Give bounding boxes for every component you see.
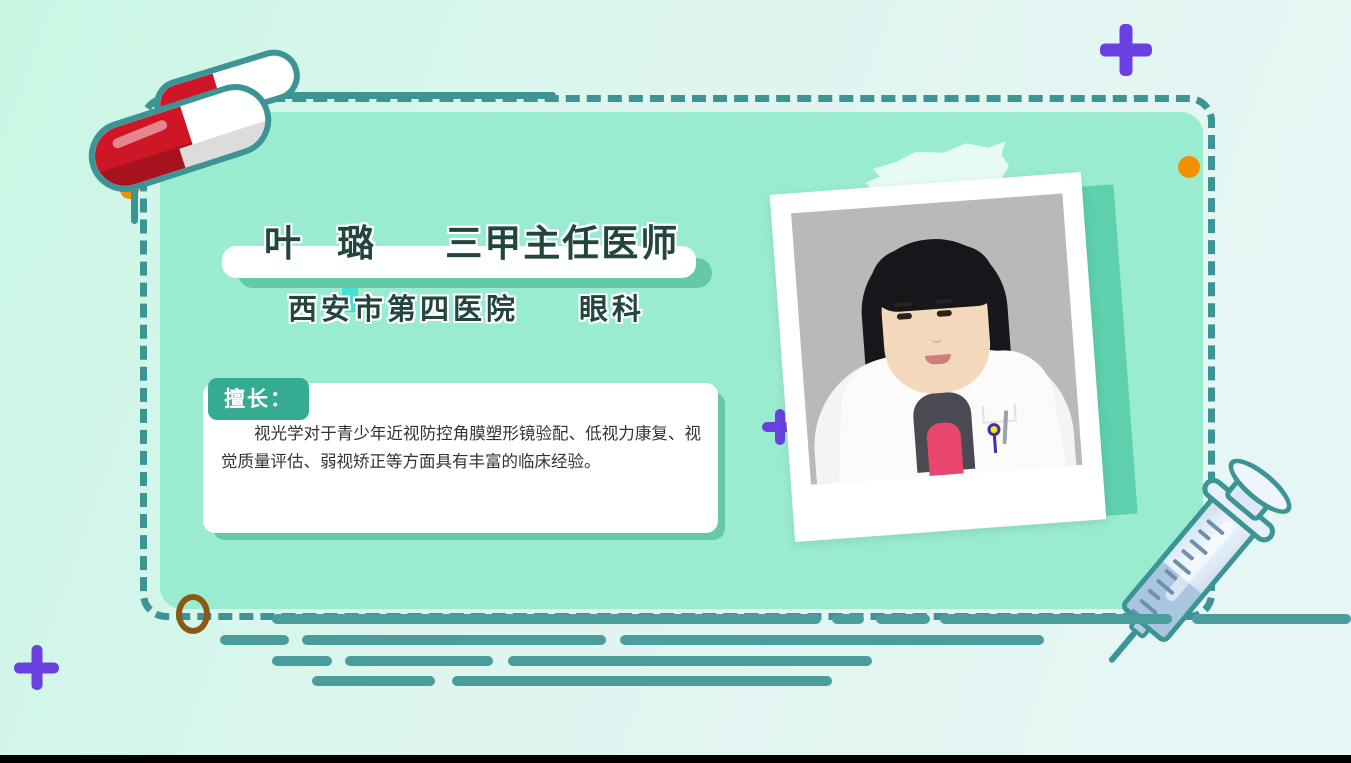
- plus-icon-top-right: [1100, 24, 1152, 76]
- dash-segment: [272, 656, 332, 666]
- orange-dot-right: [1178, 156, 1200, 178]
- dash-segment: [940, 614, 1172, 624]
- affiliation-row: 西安市第四医院 眼科: [222, 286, 742, 328]
- frame-top-segment: [276, 92, 556, 99]
- name-row: 叶 璐 三甲主任医师: [222, 216, 722, 264]
- doctor-rank: 三甲主任医师: [445, 213, 679, 267]
- dash-segment: [302, 635, 606, 645]
- dash-segment: [220, 635, 289, 645]
- dash-segment: [312, 676, 435, 686]
- dash-segment: [1192, 614, 1351, 624]
- dash-segment: [508, 656, 872, 666]
- brown-ring-icon: [176, 594, 210, 634]
- plus-icon-bottom-left: [14, 645, 59, 690]
- dash-segment: [876, 614, 930, 624]
- capsule-icon: [82, 58, 312, 208]
- specialty-label-badge: 擅长：: [208, 378, 309, 420]
- doctor-photo: [791, 193, 1082, 484]
- doctor-name: 叶 璐: [264, 213, 387, 267]
- portrait-illustration: [791, 193, 1082, 484]
- department-name: 眼科: [579, 286, 645, 328]
- photo-frame: [770, 172, 1107, 542]
- doctor-profile-card: 叶 璐 三甲主任医师 西安市第四医院 眼科 擅长： 视光学对于青少年近视防控角膜…: [0, 0, 1351, 763]
- dash-segment: [620, 635, 1044, 645]
- dash-segment: [272, 614, 821, 624]
- hospital-name: 西安市第四医院: [288, 286, 519, 328]
- dash-segment: [345, 656, 493, 666]
- specialty-text: 视光学对于青少年近视防控角膜塑形镜验配、低视力康复、视觉质量评估、弱视矫正等方面…: [221, 420, 701, 476]
- bottom-strip: [0, 755, 1351, 763]
- dash-segment: [452, 676, 832, 686]
- dash-segment: [832, 614, 864, 624]
